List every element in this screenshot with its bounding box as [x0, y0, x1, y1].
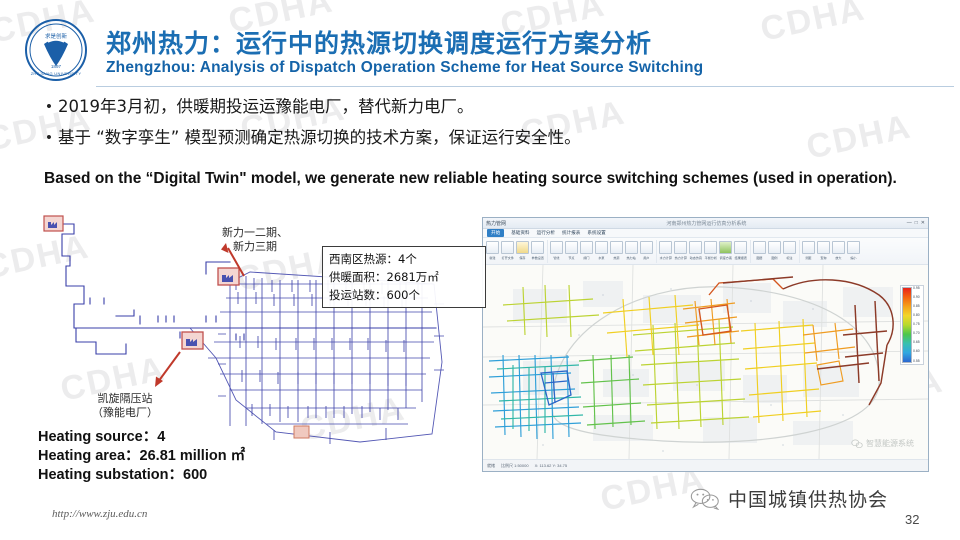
callout-line-heat-source: 西南区热源：4个: [329, 250, 479, 268]
menu-item-basic-data[interactable]: 基础资料: [511, 230, 529, 236]
node-icon[interactable]: 节点: [565, 240, 578, 263]
plant-marker: [44, 216, 63, 231]
legend-tick: 0.80: [913, 314, 920, 317]
map-canvas[interactable]: 0.95 0.90 0.85 0.80 0.75 0.70 0.65 0.60 …: [483, 265, 928, 459]
ribbon-label: 水力计算: [659, 255, 671, 260]
ribbon-label: 结果报表: [734, 255, 746, 260]
svg-text:求是创新: 求是创新: [45, 32, 68, 40]
report-icon[interactable]: 结果报表: [734, 240, 747, 263]
ribbon-label: 管线: [553, 255, 559, 260]
ribbon-group-edit: 新建 打开文件 保存 参数设置: [486, 240, 548, 263]
ribbon-toolbar: 新建 打开文件 保存 参数设置 管线 节点 阀门 水泵 热源 热力站 用户 水力…: [483, 238, 928, 265]
ribbon-label: 动态仿真: [689, 255, 701, 260]
menu-item-settings[interactable]: 系统设置: [587, 230, 605, 236]
ribbon-label: 新建: [489, 255, 495, 260]
ribbon-group-calculation: 水力计算 热力计算 动态仿真 平衡分析 调度方案 结果报表: [659, 240, 751, 263]
ribbon-label: 热力站: [627, 255, 636, 260]
legend-tick: 0.65: [913, 341, 920, 344]
status-ready: 就绪: [487, 463, 495, 469]
menu-bar: 开始 基础资料 运行分析 统计报表 系统设置: [483, 229, 928, 238]
annotation-line-1: 凯旋隔压站: [92, 392, 158, 406]
menu-item-reports[interactable]: 统计报表: [562, 230, 580, 236]
balance-icon[interactable]: 平衡分析: [704, 240, 717, 263]
plant-marker: [182, 332, 203, 349]
map-watermark-label: 智慧能源系统: [866, 438, 914, 449]
valve-icon[interactable]: 阀门: [580, 240, 593, 263]
annotation-line-2: 新力三期: [222, 240, 288, 254]
slide-header: 求是创新 1897 ZHEJIANG UNIVERSITY 郑州热力：运行中的热…: [0, 0, 960, 88]
measure-icon[interactable]: 测距: [802, 240, 815, 263]
legend-tick: 0.90: [913, 296, 920, 299]
menu-item-operation-analysis[interactable]: 运行分析: [537, 230, 555, 236]
hydraulic-icon[interactable]: 水力计算: [659, 240, 672, 263]
ribbon-label: 热源: [613, 255, 619, 260]
footer-url[interactable]: http://www.zju.edu.cn: [52, 508, 147, 520]
document-title-label: 河南郑州热力管网运行仿真分析系统: [506, 220, 907, 227]
zhejiang-university-logo-icon: 求是创新 1897 ZHEJIANG UNIVERSITY: [24, 18, 88, 82]
legend-tick: 0.55: [913, 360, 920, 363]
association-name: 中国城镇供热协会: [728, 485, 888, 512]
ribbon-label: 节点: [568, 255, 574, 260]
legend-tick: 0.85: [913, 305, 920, 308]
ribbon-group-modeling: 管线 节点 阀门 水泵 热源 热力站 用户: [550, 240, 657, 263]
status-bar: 就绪 比例尺 1:50000 X: 113.62 Y: 34.75: [483, 459, 928, 471]
bullet-marker: •: [40, 127, 58, 149]
legend-icon[interactable]: 图例: [768, 240, 781, 263]
ribbon-label: 标注: [786, 255, 792, 260]
page-number: 32: [905, 512, 919, 527]
legend-tick: 0.75: [913, 323, 920, 326]
maximize-button[interactable]: □: [915, 220, 918, 226]
app-name-label: 热力管网: [486, 220, 506, 227]
wechat-icon: [690, 488, 720, 510]
list-item: • 2019年3月初，供暖期投运运豫能电厂，替代新力电厂。: [40, 96, 930, 118]
ribbon-label: 测距: [805, 255, 811, 260]
plant-marker: [294, 426, 309, 438]
english-summary-paragraph: Based on the “Digital Twin" model, we ge…: [44, 168, 924, 189]
callout-line-heating-area: 供暖面积：2681万㎡: [329, 268, 479, 286]
minimize-button[interactable]: —: [907, 220, 912, 226]
simulation-software-window[interactable]: 热力管网 河南郑州热力管网运行仿真分析系统 — □ ✕ 开始 基础资料 运行分析…: [482, 217, 929, 472]
legend-tick: 0.60: [913, 350, 920, 353]
save-icon[interactable]: 保存: [516, 240, 529, 263]
dynamic-icon[interactable]: 动态仿真: [689, 240, 702, 263]
ribbon-label: 放大: [835, 255, 841, 260]
ribbon-label: 阀门: [583, 255, 589, 260]
legend-ticks: 0.95 0.90 0.85 0.80 0.75 0.70 0.65 0.60 …: [913, 287, 920, 363]
ribbon-label: 热力计算: [674, 255, 686, 260]
ribbon-label: 缩小: [850, 255, 856, 260]
ribbon-label: 图层: [756, 255, 762, 260]
annotation-new-power-plants: 新力一二期、 新力三期: [222, 226, 288, 254]
list-item: • 基于 “数字孪生” 模型预测确定热源切换的技术方案，保证运行安全性。: [40, 127, 930, 149]
wechat-icon: [851, 439, 863, 449]
new-icon[interactable]: 新建: [486, 240, 499, 263]
ribbon-label: 图例: [771, 255, 777, 260]
header-divider: [96, 86, 954, 87]
zoom-in-icon[interactable]: 放大: [832, 240, 845, 263]
open-icon[interactable]: 打开文件: [501, 240, 514, 263]
ribbon-group-view: 图层 图例 标注: [753, 240, 800, 263]
source-icon[interactable]: 热源: [610, 240, 623, 263]
pump-icon[interactable]: 水泵: [595, 240, 608, 263]
ribbon-label: 参数设置: [531, 255, 543, 260]
ribbon-label: 打开文件: [501, 255, 513, 260]
bullet-marker: •: [40, 96, 58, 118]
ribbon-label: 用户: [643, 255, 649, 260]
association-branding: 中国城镇供热协会: [690, 485, 888, 512]
ribbon-group-tools: 测距 查询 放大 缩小: [802, 240, 863, 263]
ribbon-label: 调度方案: [719, 255, 731, 260]
annotation-arrow-icon: [155, 352, 180, 387]
diagram-callout-box: 西南区热源：4个 供暖面积：2681万㎡ 投运站数：600个: [322, 246, 486, 308]
stat-heating-area: Heating area：26.81 million ㎡: [38, 447, 245, 466]
ribbon-label: 平衡分析: [704, 255, 716, 260]
user-icon[interactable]: 用户: [640, 240, 653, 263]
stat-heating-substation: Heating substation：600: [38, 466, 245, 485]
layer-icon[interactable]: 图层: [753, 240, 766, 263]
annotation-line-2: （豫能电厂）: [92, 406, 158, 420]
label-icon[interactable]: 标注: [783, 240, 796, 263]
pipe-icon[interactable]: 管线: [550, 240, 563, 263]
schedule-icon[interactable]: 调度方案: [719, 240, 732, 263]
status-coordinates: X: 113.62 Y: 34.75: [535, 463, 568, 468]
map-watermark: 智慧能源系统: [851, 438, 914, 449]
bullet-list: • 2019年3月初，供暖期投运运豫能电厂，替代新力电厂。 • 基于 “数字孪生…: [40, 96, 930, 158]
query-icon[interactable]: 查询: [817, 240, 830, 263]
settings-icon[interactable]: 参数设置: [531, 240, 544, 263]
legend-tick: 0.95: [913, 287, 920, 290]
statistics-summary: Heating source：4 Heating area：26.81 mill…: [38, 428, 245, 485]
plant-marker: [218, 268, 239, 285]
close-button[interactable]: ✕: [921, 220, 925, 226]
page-title-en: Zhengzhou: Analysis of Dispatch Operatio…: [106, 59, 703, 77]
annotation-kaixuan-station: 凯旋隔压站 （豫能电厂）: [92, 392, 158, 420]
annotation-line-1: 新力一二期、: [222, 226, 288, 240]
thermal-icon[interactable]: 热力计算: [674, 240, 687, 263]
menu-item-start[interactable]: 开始: [487, 229, 504, 237]
slide-root: CDHA CDHA CDHA CDHA CDHA CDHA CDHA CDHA …: [0, 0, 960, 540]
ribbon-label: 查询: [820, 255, 826, 260]
bullet-text: 2019年3月初，供暖期投运运豫能电厂，替代新力电厂。: [58, 96, 474, 118]
window-titlebar: 热力管网 河南郑州热力管网运行仿真分析系统 — □ ✕: [483, 218, 928, 229]
ribbon-label: 水泵: [598, 255, 604, 260]
svg-text:1897: 1897: [51, 64, 62, 69]
bullet-text: 基于 “数字孪生” 模型预测确定热源切换的技术方案，保证运行安全性。: [58, 127, 581, 149]
callout-line-stations: 投运站数：600个: [329, 286, 479, 304]
status-scale: 比例尺 1:50000: [501, 463, 529, 469]
ribbon-label: 保存: [519, 255, 525, 260]
legend-gradient-bar: [902, 287, 912, 363]
svg-text:ZHEJIANG UNIVERSITY: ZHEJIANG UNIVERSITY: [31, 71, 82, 76]
page-title-cn: 郑州热力：运行中的热源切换调度运行方案分析: [106, 24, 652, 60]
stat-heating-source: Heating source：4: [38, 428, 245, 447]
legend-tick: 0.70: [913, 332, 920, 335]
zoom-out-icon[interactable]: 缩小: [847, 240, 860, 263]
station-icon[interactable]: 热力站: [625, 240, 638, 263]
map-color-legend: 0.95 0.90 0.85 0.80 0.75 0.70 0.65 0.60 …: [900, 285, 924, 365]
